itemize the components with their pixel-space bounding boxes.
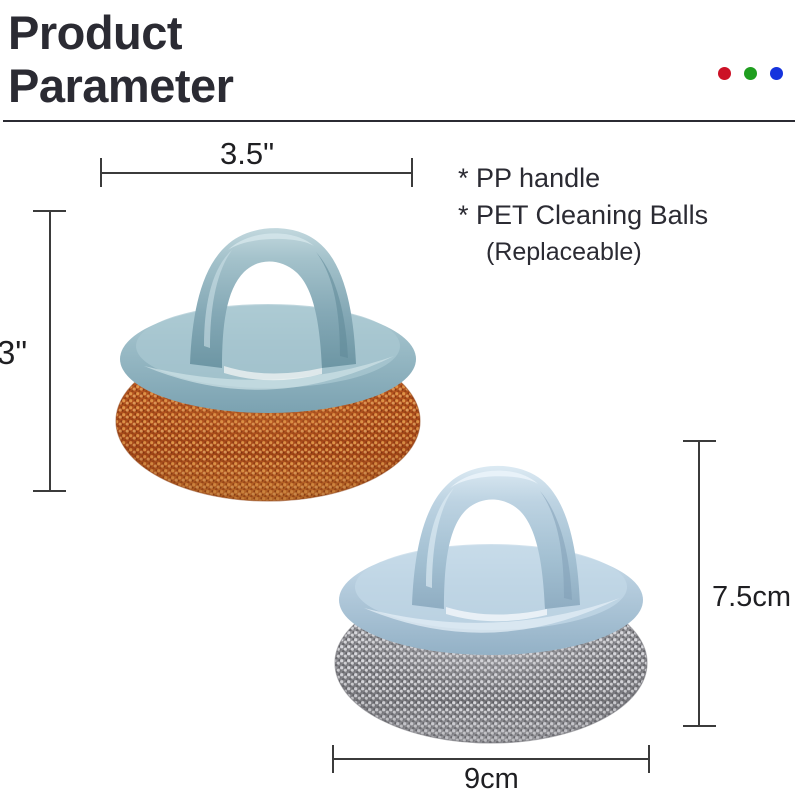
product-parameter-infographic: Product Parameter * PP handle * PET Clea… [0,0,800,801]
spec-item-replaceable: (Replaceable) [458,234,788,271]
steel-brush-illustration [326,428,656,748]
red-dot [718,67,731,80]
dimension-tick-right-width-cm [648,745,650,773]
steel-scrub-brush [326,428,656,748]
dimension-line-height-inches [49,210,51,492]
steel-brush-handle-base [339,544,643,655]
page-title: Product Parameter [8,6,648,112]
dimension-tick-left-width-inches [100,158,102,187]
dimension-label-height-cm: 7.5cm [712,580,791,614]
spec-item-pet-cleaning-balls: * PET Cleaning Balls [458,197,788,234]
title-divider [3,120,795,122]
dimension-line-width-cm [332,758,650,760]
color-dot-row [716,66,788,82]
dimension-label-width-inches: 3.5" [220,137,274,171]
dimension-line-height-cm [698,440,700,727]
dimension-label-height-inches: 3" [0,336,27,370]
dimension-tick-left-width-cm [332,745,334,773]
green-dot [744,67,757,80]
dimension-tick-top-height-inches [33,210,66,212]
dimension-tick-right-width-inches [411,158,413,187]
spec-list: * PP handle * PET Cleaning Balls (Replac… [458,160,788,271]
dimension-tick-top-height-cm [683,440,716,442]
dimension-label-width-cm: 9cm [464,762,519,796]
copper-brush-handle-base [120,304,416,413]
spec-item-pp-handle: * PP handle [458,160,788,197]
dimension-tick-bottom-height-cm [683,725,716,727]
dimension-tick-bottom-height-inches [33,490,66,492]
dimension-line-width-inches [100,172,413,174]
blue-dot [770,67,783,80]
